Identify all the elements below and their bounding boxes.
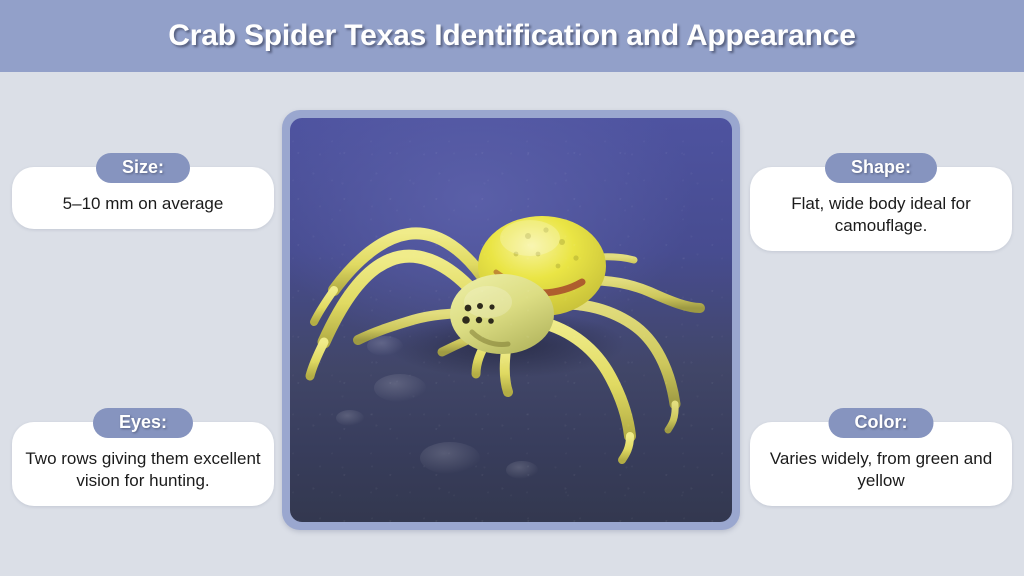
card-body-color: Varies widely, from green and yellow	[762, 448, 1000, 492]
card-label-shape: Shape:	[825, 153, 937, 183]
card-label-color: Color:	[829, 408, 934, 438]
info-card-eyes: Eyes: Two rows giving them excellent vis…	[12, 422, 274, 506]
spider-photo	[290, 118, 732, 522]
card-label-eyes: Eyes:	[93, 408, 193, 438]
card-body-shape: Flat, wide body ideal for camouflage.	[762, 193, 1000, 237]
card-body-eyes: Two rows giving them excellent vision fo…	[24, 448, 262, 492]
crab-spider-illustration	[290, 118, 732, 522]
page-title: Crab Spider Texas Identification and App…	[168, 19, 855, 53]
card-label-size: Size:	[96, 153, 190, 183]
spider-cephalothorax	[450, 274, 554, 354]
info-card-size: Size: 5–10 mm on average	[12, 167, 274, 229]
photo-frame	[282, 110, 740, 530]
info-card-color: Color: Varies widely, from green and yel…	[750, 422, 1012, 506]
title-banner: Crab Spider Texas Identification and App…	[0, 0, 1024, 72]
info-card-shape: Shape: Flat, wide body ideal for camoufl…	[750, 167, 1012, 251]
card-body-size: 5–10 mm on average	[24, 193, 262, 215]
